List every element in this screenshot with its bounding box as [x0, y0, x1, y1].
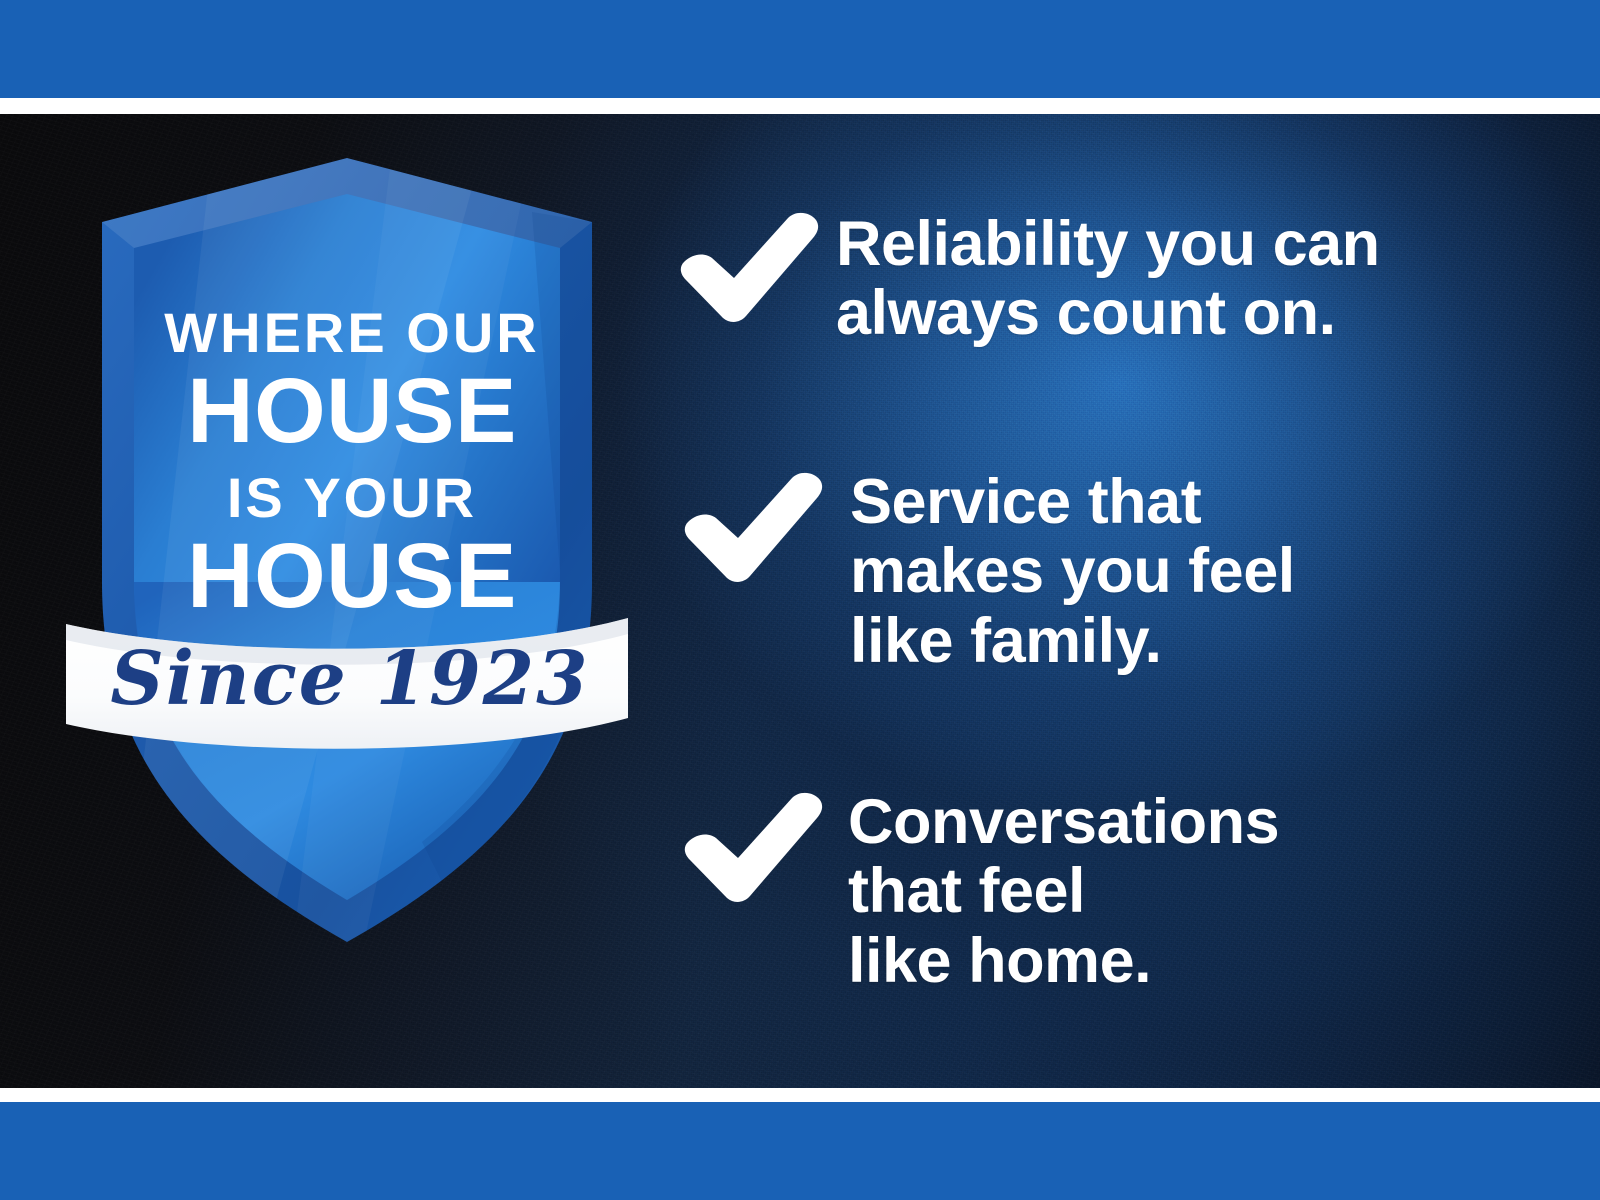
list-item: Service that makes you feel like family.: [676, 468, 1295, 676]
badge-line-3: IS YOUR: [227, 466, 477, 529]
ribbon-since-text: Since 1923: [110, 636, 589, 722]
badge-line-1: WHERE OUR: [164, 301, 539, 364]
check-icon: [676, 468, 826, 588]
list-item-text: Reliability you can always count on.: [836, 208, 1380, 349]
check-icon: [672, 208, 822, 328]
top-white-divider: [0, 98, 1600, 114]
promo-graphic: WHERE OUR HOUSE IS YOUR HOUSE Since 1923…: [0, 0, 1600, 1200]
bottom-brand-bar: [0, 1102, 1600, 1200]
top-brand-bar: [0, 0, 1600, 98]
badge-line-2: HOUSE: [187, 360, 517, 462]
badge-line-4: HOUSE: [187, 525, 517, 627]
list-item: Conversations that feel like home.: [676, 788, 1279, 996]
bottom-white-divider: [0, 1088, 1600, 1102]
list-item: Reliability you can always count on.: [672, 208, 1380, 349]
list-item-text: Service that makes you feel like family.: [850, 468, 1295, 676]
badge-ribbon: Since 1923: [66, 618, 628, 749]
check-icon: [676, 788, 826, 908]
list-item-text: Conversations that feel like home.: [848, 788, 1279, 996]
shield-badge-logo: WHERE OUR HOUSE IS YOUR HOUSE Since 1923: [62, 152, 632, 952]
